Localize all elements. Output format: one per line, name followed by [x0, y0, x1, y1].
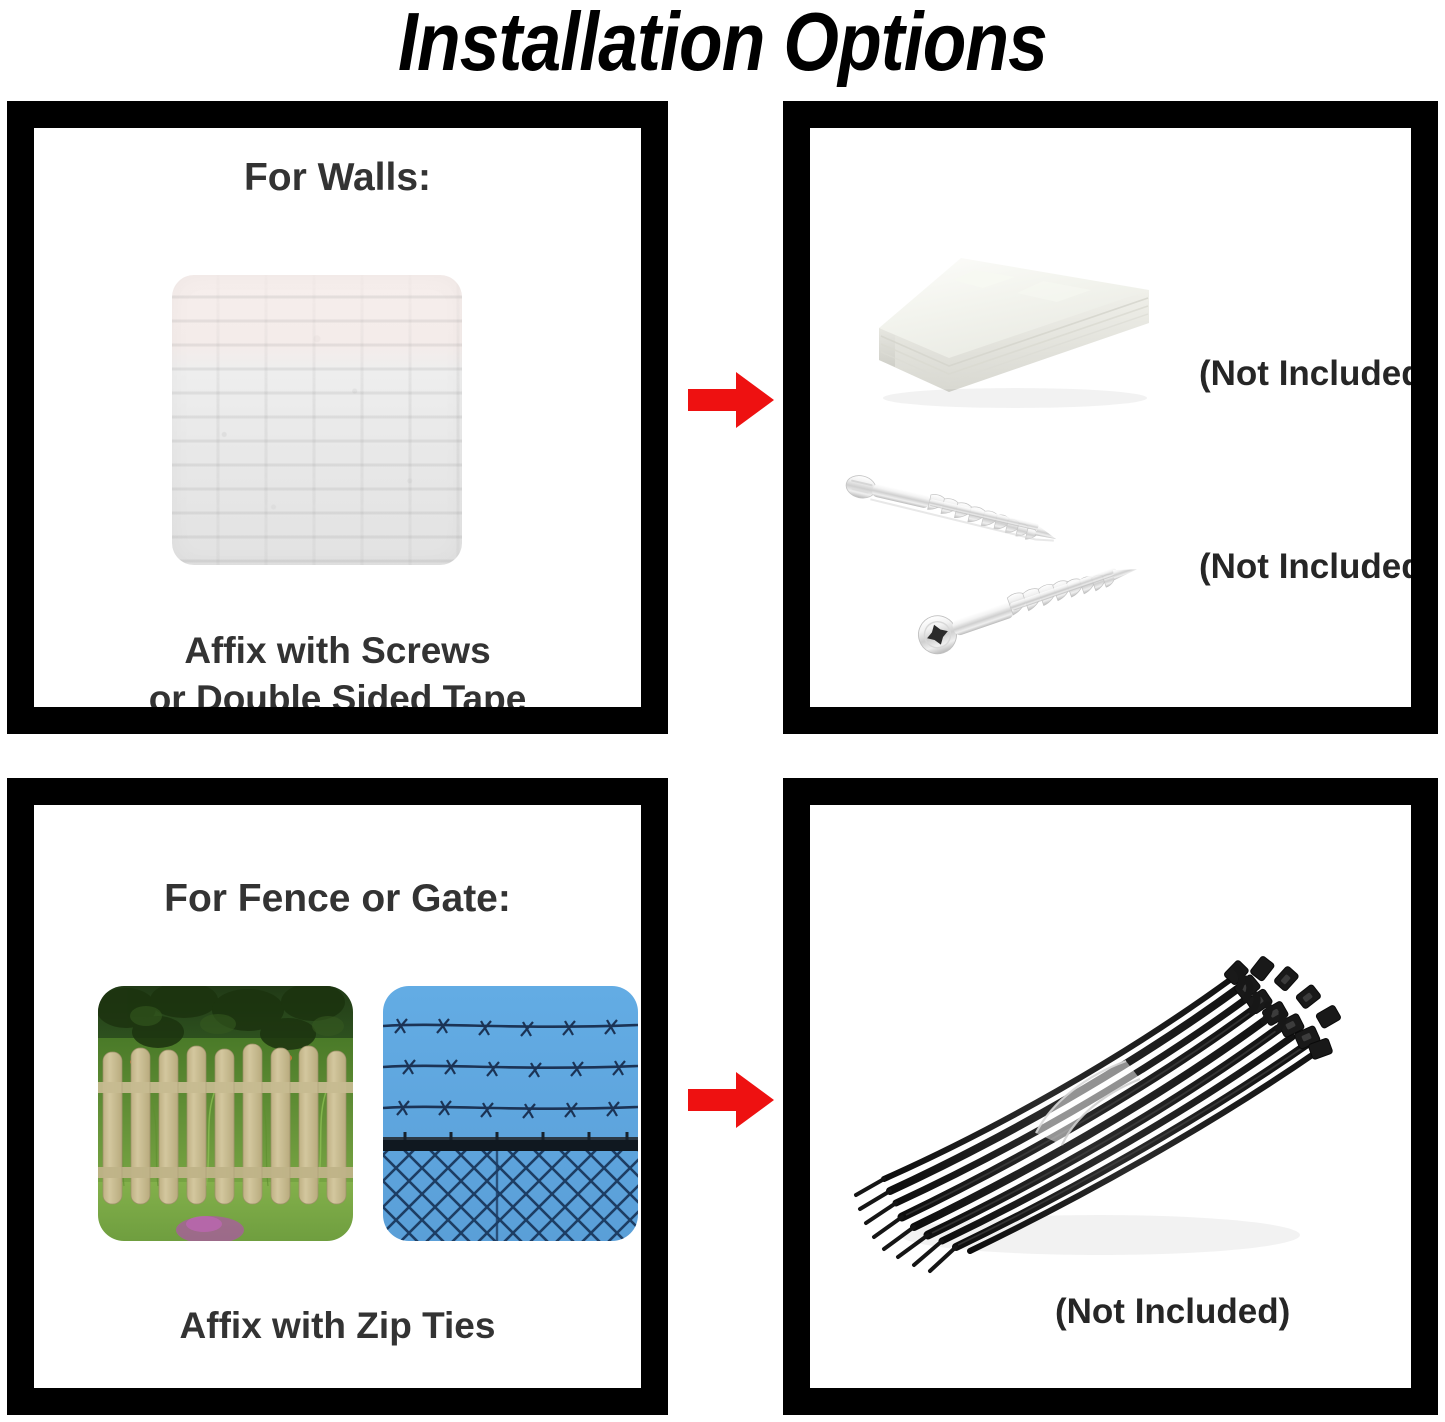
zip-tie-bundle-image — [840, 865, 1385, 1295]
double-sided-tape-stack-image — [865, 240, 1165, 440]
barbed-wire-chain-link-photo — [383, 986, 638, 1241]
wood-screws-image — [832, 458, 1202, 688]
arrow-right-icon-top — [688, 372, 774, 428]
for-fence-caption: Affix with Zip Ties — [34, 1301, 641, 1351]
installation-options-infographic: Installation Options For Walls: Affix wi… — [0, 0, 1445, 1422]
arrow-right-icon-bottom — [688, 1072, 774, 1128]
panel-for-walls-content: For Walls: Affix with Screws or Double S… — [34, 128, 641, 707]
for-walls-caption-line1: Affix with Screws — [34, 626, 641, 676]
brick-texture-speckle — [172, 275, 462, 565]
tape-not-included-label: (Not Included) — [1199, 354, 1411, 394]
for-walls-heading: For Walls: — [34, 156, 641, 200]
panel-for-walls: For Walls: Affix with Screws or Double S… — [7, 101, 668, 734]
for-walls-caption-line2: or Double Sided Tape — [34, 674, 641, 707]
picket-fence-photo — [98, 986, 353, 1241]
panel-for-fence-content: For Fence or Gate: — [34, 805, 641, 1388]
page-title: Installation Options — [101, 0, 1344, 90]
white-brick-wall-image — [172, 275, 462, 565]
screws-not-included-label: (Not Included) — [1199, 547, 1411, 587]
panel-zip-ties: (Not Included) — [783, 778, 1438, 1415]
panel-wall-hardware-content: (Not Included) — [810, 128, 1411, 707]
zip-ties-not-included-label: (Not Included) — [1055, 1292, 1290, 1332]
panel-wall-hardware: (Not Included) — [783, 101, 1438, 734]
panel-for-fence-or-gate: For Fence or Gate: — [7, 778, 668, 1415]
panel-zip-ties-content: (Not Included) — [810, 805, 1411, 1388]
for-fence-heading: For Fence or Gate: — [34, 877, 641, 921]
